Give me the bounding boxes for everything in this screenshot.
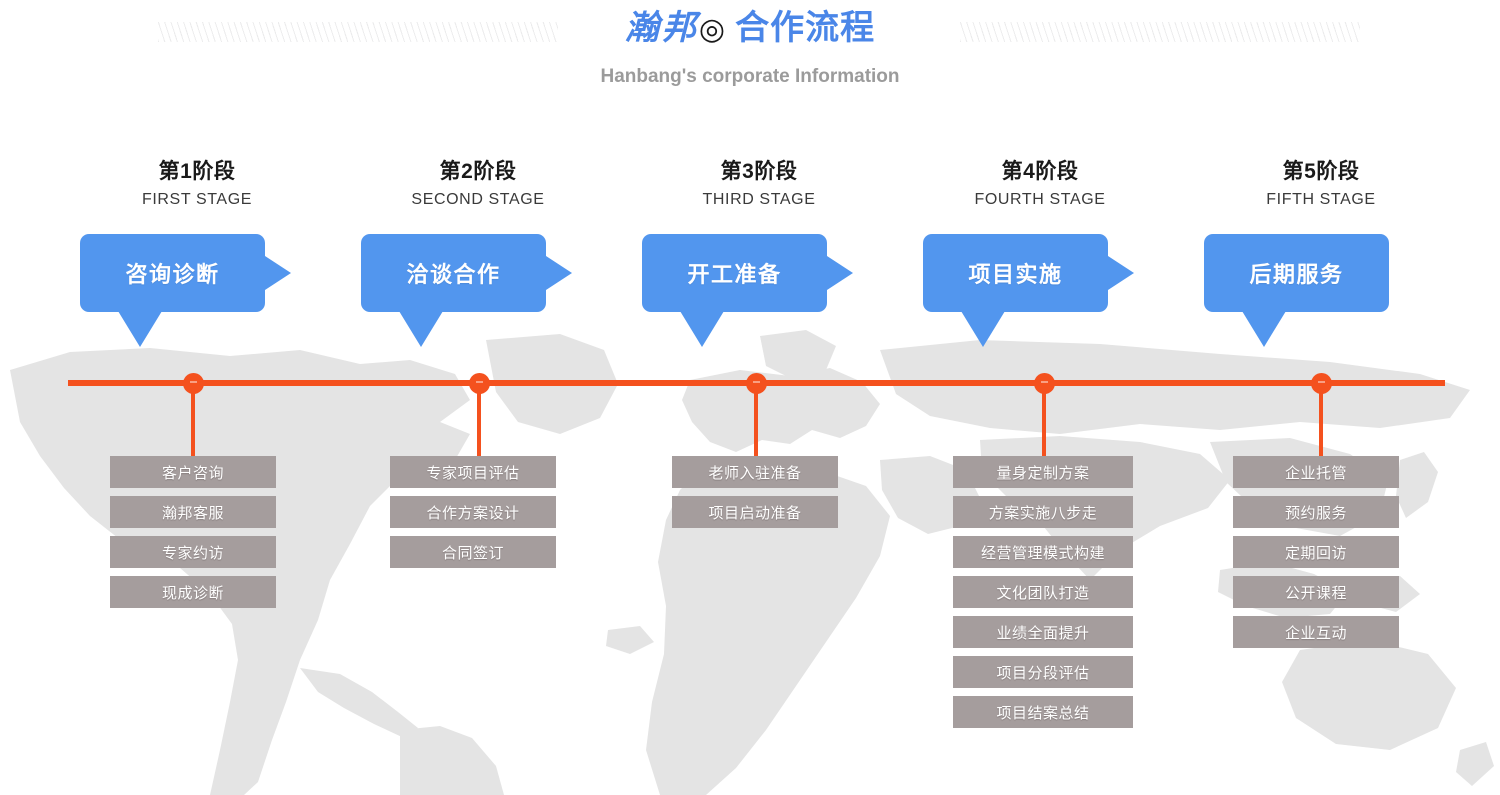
stage-item[interactable]: 业绩全面提升 <box>953 616 1133 648</box>
stage-number-cn: 第5阶段 <box>1180 158 1462 186</box>
stage-heading-4: 第4阶段FOURTH STAGE <box>899 158 1181 212</box>
stage-item[interactable]: 量身定制方案 <box>953 456 1133 488</box>
stage-bubble-wrap-2: 洽谈合作 <box>337 234 619 352</box>
stage-number-en: SECOND STAGE <box>337 188 619 212</box>
stage-column-4: 第4阶段FOURTH STAGE项目实施 <box>899 158 1181 352</box>
bubble-tail-icon <box>118 311 162 347</box>
stage-bubble-4[interactable]: 项目实施 <box>923 234 1108 312</box>
stage-number-cn: 第3阶段 <box>618 158 900 186</box>
stage-bubble-wrap-1: 咨询诊断 <box>56 234 338 352</box>
stage-bubble-wrap-4: 项目实施 <box>899 234 1181 352</box>
stage-number-en: FIFTH STAGE <box>1180 188 1462 212</box>
timeline-drop-line-3 <box>754 390 758 456</box>
stage-column-5: 第5阶段FIFTH STAGE后期服务 <box>1180 158 1462 352</box>
stage-column-1: 第1阶段FIRST STAGE咨询诊断 <box>56 158 338 352</box>
stage-bubble-wrap-3: 开工准备 <box>618 234 900 352</box>
stage-item-list-5: 企业托管预约服务定期回访公开课程企业互动 <box>1233 456 1399 656</box>
stage-number-cn: 第2阶段 <box>337 158 619 186</box>
stage-bubble-3[interactable]: 开工准备 <box>642 234 827 312</box>
brand-name-cn: 瀚邦 <box>625 8 699 48</box>
stage-number-en: FIRST STAGE <box>56 188 338 212</box>
bubble-tail-icon <box>399 311 443 347</box>
bubble-tail-icon <box>680 311 724 347</box>
stage-column-3: 第3阶段THIRD STAGE开工准备 <box>618 158 900 352</box>
stage-item[interactable]: 专家项目评估 <box>390 456 556 488</box>
timeline-dot-5[interactable] <box>1311 373 1332 394</box>
stage-item[interactable]: 文化团队打造 <box>953 576 1133 608</box>
stage-item-list-3: 老师入驻准备项目启动准备 <box>672 456 838 536</box>
bubble-tail-icon <box>961 311 1005 347</box>
stage-item[interactable]: 预约服务 <box>1233 496 1399 528</box>
timeline-dot-2[interactable] <box>469 373 490 394</box>
stage-bubble-wrap-5: 后期服务 <box>1180 234 1462 352</box>
stage-number-en: THIRD STAGE <box>618 188 900 212</box>
timeline-drop-line-5 <box>1319 390 1323 456</box>
stage-item-list-2: 专家项目评估合作方案设计合同签订 <box>390 456 556 576</box>
timeline-drop-line-4 <box>1042 390 1046 456</box>
next-stage-arrow-icon <box>546 256 572 290</box>
stage-bubble-label: 后期服务 <box>1249 257 1343 289</box>
stage-item[interactable]: 方案实施八步走 <box>953 496 1133 528</box>
stage-number-en: FOURTH STAGE <box>899 188 1181 212</box>
stages-container: 第1阶段FIRST STAGE咨询诊断客户咨询瀚邦客服专家约访现成诊断第2阶段S… <box>0 0 1500 795</box>
stage-item[interactable]: 瀚邦客服 <box>110 496 276 528</box>
next-stage-arrow-icon <box>1108 256 1134 290</box>
bubble-tail-icon <box>1242 311 1286 347</box>
stage-item-list-4: 量身定制方案方案实施八步走经营管理模式构建文化团队打造业绩全面提升项目分段评估项… <box>953 456 1133 736</box>
next-stage-arrow-icon <box>265 256 291 290</box>
stage-item-list-1: 客户咨询瀚邦客服专家约访现成诊断 <box>110 456 276 616</box>
stage-item[interactable]: 企业互动 <box>1233 616 1399 648</box>
stage-item[interactable]: 公开课程 <box>1233 576 1399 608</box>
stage-bubble-2[interactable]: 洽谈合作 <box>361 234 546 312</box>
stage-number-cn: 第1阶段 <box>56 158 338 186</box>
stage-bubble-label: 项目实施 <box>968 257 1062 289</box>
stage-item[interactable]: 项目分段评估 <box>953 656 1133 688</box>
page-header: 瀚邦◎合作流程 Hanbang's corporate Information <box>0 0 1500 92</box>
stage-item[interactable]: 项目启动准备 <box>672 496 838 528</box>
stage-item[interactable]: 项目结案总结 <box>953 696 1133 728</box>
stage-item[interactable]: 专家约访 <box>110 536 276 568</box>
stage-item[interactable]: 老师入驻准备 <box>672 456 838 488</box>
timeline-dot-3[interactable] <box>746 373 767 394</box>
page-subtitle: Hanbang's corporate Information <box>0 62 1500 92</box>
next-stage-arrow-icon <box>827 256 853 290</box>
stage-item[interactable]: 合同签订 <box>390 536 556 568</box>
stage-item[interactable]: 经营管理模式构建 <box>953 536 1133 568</box>
stage-number-cn: 第4阶段 <box>899 158 1181 186</box>
timeline-dot-4[interactable] <box>1034 373 1055 394</box>
page-title-cn: 合作流程 <box>735 9 875 47</box>
timeline-drop-line-2 <box>477 390 481 456</box>
page-title: 瀚邦◎合作流程 <box>0 0 1500 58</box>
timeline-dot-1[interactable] <box>183 373 204 394</box>
stage-heading-2: 第2阶段SECOND STAGE <box>337 158 619 212</box>
stage-item[interactable]: 定期回访 <box>1233 536 1399 568</box>
stage-heading-5: 第5阶段FIFTH STAGE <box>1180 158 1462 212</box>
stage-item[interactable]: 现成诊断 <box>110 576 276 608</box>
stage-bubble-5[interactable]: 后期服务 <box>1204 234 1389 312</box>
timeline-drop-line-1 <box>191 390 195 456</box>
stage-bubble-label: 咨询诊断 <box>125 257 219 289</box>
stage-heading-1: 第1阶段FIRST STAGE <box>56 158 338 212</box>
stage-heading-3: 第3阶段THIRD STAGE <box>618 158 900 212</box>
stage-item[interactable]: 客户咨询 <box>110 456 276 488</box>
stage-bubble-1[interactable]: 咨询诊断 <box>80 234 265 312</box>
stage-item[interactable]: 企业托管 <box>1233 456 1399 488</box>
brand-ring-icon: ◎ <box>699 13 725 46</box>
stage-column-2: 第2阶段SECOND STAGE洽谈合作 <box>337 158 619 352</box>
stage-item[interactable]: 合作方案设计 <box>390 496 556 528</box>
stage-bubble-label: 开工准备 <box>687 257 781 289</box>
stage-bubble-label: 洽谈合作 <box>406 257 500 289</box>
